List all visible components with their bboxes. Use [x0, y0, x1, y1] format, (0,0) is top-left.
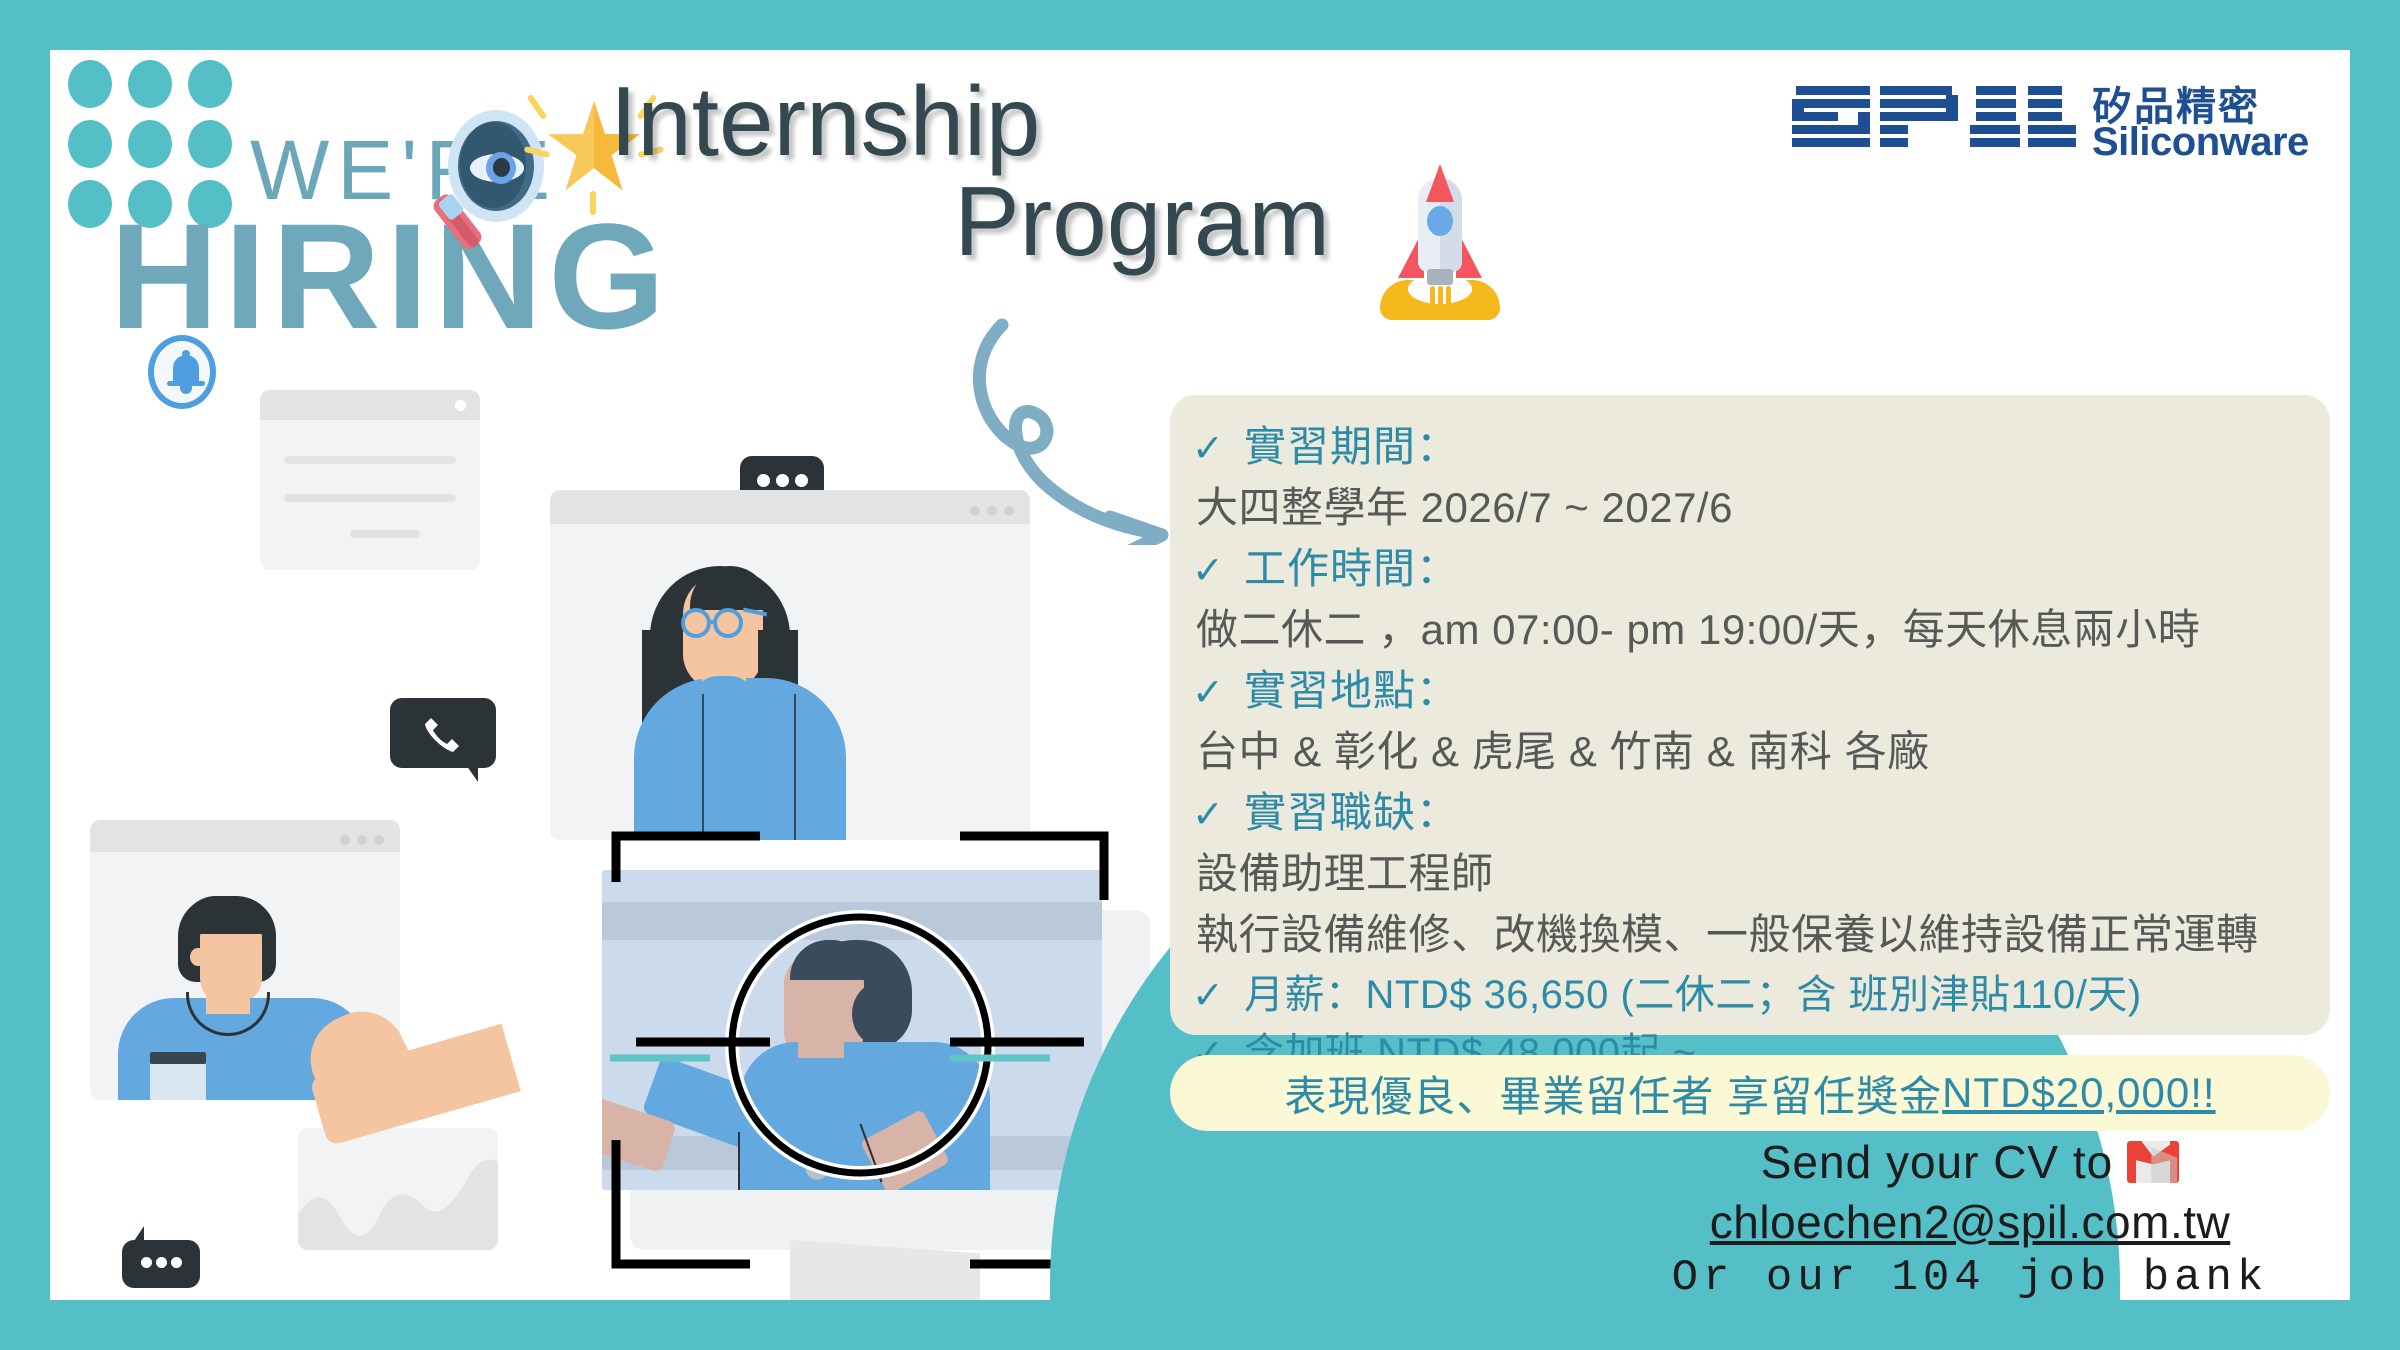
retention-bonus-amount: NTD$20,000!! [1942, 1069, 2215, 1117]
detail-row-salary: ✓ 月薪：NTD$ 36,650 (二休二；含 班別津貼110/天) [1192, 962, 2310, 1020]
chat-bubble-icon-2 [122, 1240, 200, 1288]
detail-row-body-2: 台中 & 彰化 & 虎尾 & 竹南 & 南科 各廠 [1192, 718, 2310, 779]
detail-body-0: 大四整學年 2026/7 ~ 2027/6 [1192, 474, 1733, 535]
send-cv-label: Send your CV to [1761, 1135, 2114, 1189]
detail-heading-3: 實習職缺： [1244, 779, 1459, 840]
detail-row-heading-0: ✓ 實習期間： [1192, 413, 2310, 474]
contact-block: Send your CV to chloechen2@spil.com.tw O… [1580, 1135, 2350, 1300]
check-icon-4: ✓ [1192, 973, 1244, 1018]
detail-row-heading-2: ✓ 實習地點： [1192, 657, 2310, 718]
check-icon-1: ✓ [1192, 548, 1244, 593]
bell-notification-icon [148, 335, 216, 409]
job-bank-note: Or our 104 job bank [1580, 1253, 2350, 1300]
detail-heading-1: 工作時間： [1244, 535, 1459, 596]
title-line-1: Internship [570, 72, 1330, 172]
detail-body-3: 設備助理工程師 [1192, 840, 1494, 901]
detail-row-body-1: 做二休二 ，am 07:00- pm 19:00/天，每天休息兩小時 [1192, 596, 2310, 657]
chart-card [298, 1128, 498, 1250]
detail-row-body-0: 大四整學年 2026/7 ~ 2027/6 [1192, 474, 2310, 535]
spil-english-name: Siliconware [2092, 120, 2309, 165]
poster-root: WE'RE HIRING Internship Progr [0, 0, 2400, 1350]
check-icon-0: ✓ [1192, 426, 1244, 471]
document-card [260, 390, 480, 570]
salary-text: 月薪：NTD$ 36,650 (二休二；含 班別津貼110/天) [1244, 962, 2142, 1020]
gmail-icon [2127, 1141, 2179, 1183]
detail-row-job-detail: 執行設備維修、改機換模、一般保養以維持設備正常運轉 [1192, 901, 2310, 962]
phone-icon [420, 713, 464, 753]
contact-email[interactable]: chloechen2@spil.com.tw [1580, 1195, 2350, 1249]
job-detail-text: 執行設備維修、改機換模、一般保養以維持設備正常運轉 [1192, 901, 2259, 962]
poster-canvas: WE'RE HIRING Internship Progr [50, 50, 2350, 1300]
crosshair-target-icon [610, 830, 1110, 1270]
retention-bonus-banner: 表現優良、畢業留任者 享留任獎金NTD$20,000!! [1170, 1055, 2330, 1131]
internship-details-panel: ✓ 實習期間： 大四整學年 2026/7 ~ 2027/6 ✓ 工作時間： 做二… [1170, 395, 2330, 1035]
send-cv-line: Send your CV to [1580, 1135, 2350, 1189]
detail-body-2: 台中 & 彰化 & 虎尾 & 竹南 & 南科 各廠 [1192, 718, 1930, 779]
spil-logo: 矽品精密 Siliconware [1790, 62, 2320, 172]
spil-wordmark-icon [1790, 82, 2080, 154]
detail-row-heading-3: ✓ 實習職缺： [1192, 779, 2310, 840]
rocket-icon [1370, 170, 1510, 310]
retention-bonus-text: 表現優良、畢業留任者 享留任獎金 [1284, 1063, 1942, 1124]
detail-heading-2: 實習地點： [1244, 657, 1459, 718]
title-line-2: Program [570, 172, 1330, 272]
detail-row-heading-1: ✓ 工作時間： [1192, 535, 2310, 596]
phone-bubble-icon [390, 698, 496, 768]
page-title: Internship Program [570, 72, 1330, 272]
area-chart-graphic [298, 1128, 498, 1250]
check-icon-2: ✓ [1192, 670, 1244, 715]
detail-row-body-3: 設備助理工程師 [1192, 840, 2310, 901]
detail-heading-0: 實習期間： [1244, 413, 1459, 474]
detail-body-1: 做二休二 ，am 07:00- pm 19:00/天，每天休息兩小時 [1192, 596, 2200, 657]
check-icon-3: ✓ [1192, 792, 1244, 837]
